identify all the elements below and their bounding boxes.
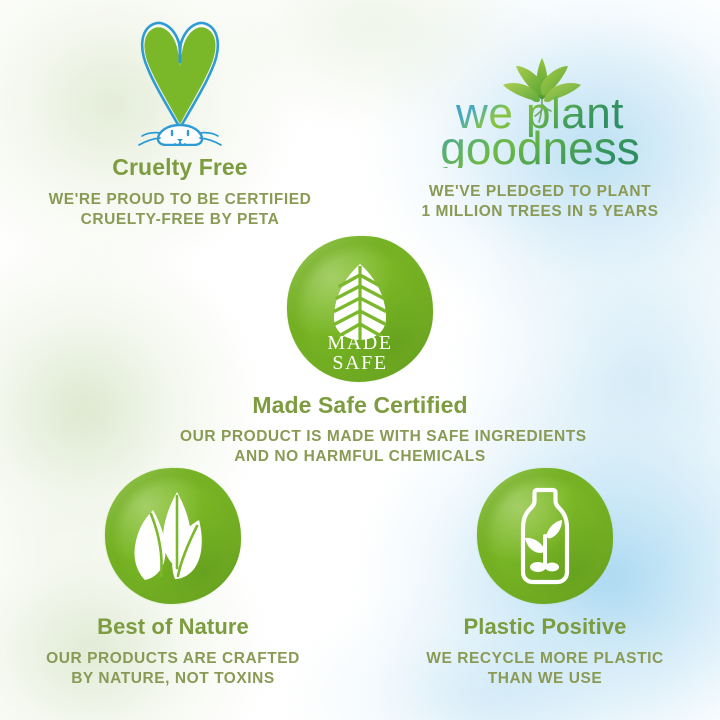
made-safe-description: OUR PRODUCT IS MADE WITH SAFE INGREDIENT… [180,427,540,468]
best-of-nature-desc-line-2: BY NATURE, NOT TOXINS [0,669,346,689]
we-plant-goodness-description: WE'VE PLEDGED TO PLANT 1 MILLION TREES I… [370,182,710,223]
made-safe-badge-text-line-1: MADE [327,332,392,354]
cruelty-free-title: Cruelty Free [10,154,350,181]
best-of-nature-blob [105,468,241,604]
best-of-nature-title: Best of Nature [0,614,346,640]
made-safe-blob: MADE SAFE [287,236,433,382]
made-safe-desc-line-1: OUR PRODUCT IS MADE WITH SAFE INGREDIENT… [180,427,540,447]
plastic-positive-title: Plastic Positive [372,614,718,640]
cruelty-free-desc-line-2: CRUELTY-FREE BY PETA [10,210,350,230]
best-of-nature-desc-line-1: OUR PRODUCTS ARE CRAFTED [0,649,346,669]
made-safe-badge-text-line-2: SAFE [332,352,387,374]
wpg-line-2: goodness [440,122,640,168]
badge-made-safe: MADE SAFE Made Safe Certified OUR PRODUC… [180,236,540,468]
bottle-sprout-icon [477,468,613,604]
plastic-positive-description: WE RECYCLE MORE PLASTIC THAN WE USE [372,649,718,690]
plastic-positive-desc-line-1: WE RECYCLE MORE PLASTIC [372,649,718,669]
peta-bunny-heart-icon [117,12,243,146]
plastic-positive-icon-wrap [372,468,718,604]
wpg-desc-line-2: 1 MILLION TREES IN 5 YEARS [370,202,710,222]
best-of-nature-description: OUR PRODUCTS ARE CRAFTED BY NATURE, NOT … [0,649,346,690]
best-of-nature-icon-wrap [0,468,346,604]
made-safe-icon-wrap: MADE SAFE [180,236,540,382]
made-safe-leaf-icon: MADE SAFE [287,236,433,382]
plastic-positive-desc-line-2: THAN WE USE [372,669,718,689]
plastic-positive-blob [477,468,613,604]
infographic-canvas: Cruelty Free WE'RE PROUD TO BE CERTIFIED… [0,0,720,720]
badge-plastic-positive: Plastic Positive WE RECYCLE MORE PLASTIC… [372,468,718,690]
we-plant-goodness-logo-wrap: we plant goodness [370,52,710,168]
badge-best-of-nature: Best of Nature OUR PRODUCTS ARE CRAFTED … [0,468,346,690]
wpg-desc-line-1: WE'VE PLEDGED TO PLANT [370,182,710,202]
cruelty-free-icon-wrap [10,12,350,146]
three-leaves-icon [105,468,241,604]
made-safe-desc-line-2: AND NO HARMFUL CHEMICALS [180,447,540,467]
we-plant-goodness-logo: we plant goodness [420,52,660,168]
badge-we-plant-goodness: we plant goodness WE'VE PLEDGED TO PLANT… [370,52,710,223]
cruelty-free-description: WE'RE PROUD TO BE CERTIFIED CRUELTY-FREE… [10,190,350,231]
cruelty-free-desc-line-1: WE'RE PROUD TO BE CERTIFIED [10,190,350,210]
badge-cruelty-free: Cruelty Free WE'RE PROUD TO BE CERTIFIED… [10,12,350,231]
made-safe-title: Made Safe Certified [180,392,540,419]
